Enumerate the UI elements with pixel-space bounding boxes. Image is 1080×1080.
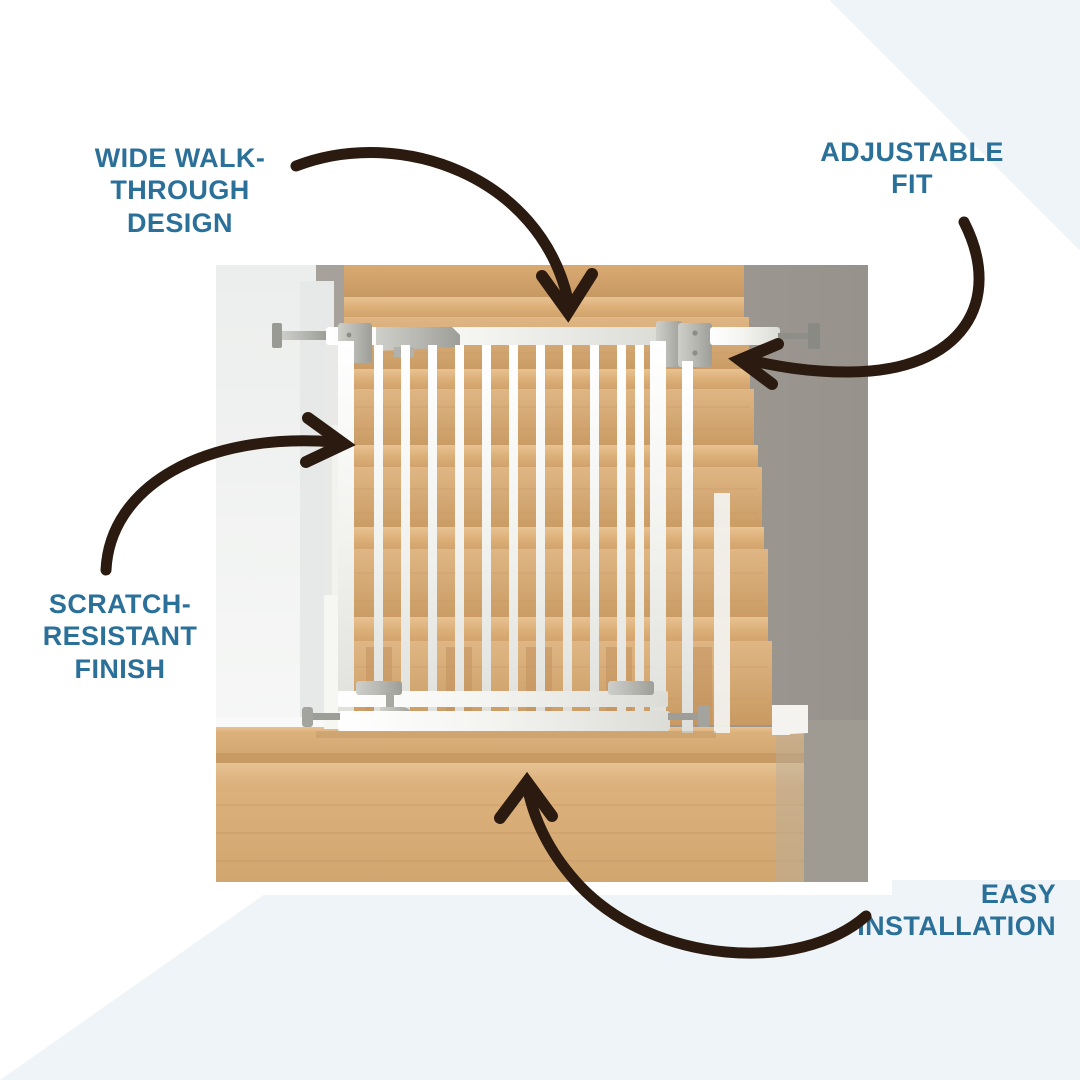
callout-line: DESIGN: [60, 207, 300, 239]
product-photo: [216, 265, 868, 882]
callout-line: ADJUSTABLE: [782, 136, 1042, 168]
callout-easy-installation: EASY INSTALLATION: [756, 878, 1056, 943]
callout-wide-walk-through-design: WIDE WALK- THROUGH DESIGN: [60, 142, 300, 239]
callout-line: FINISH: [14, 653, 226, 685]
callout-line: SCRATCH-: [14, 588, 226, 620]
callout-line: FIT: [782, 168, 1042, 200]
callout-line: INSTALLATION: [756, 910, 1056, 942]
callout-scratch-resistant-finish: SCRATCH- RESISTANT FINISH: [14, 588, 226, 685]
corner-accent-top-right: [830, 0, 1080, 250]
safety-gate-scene: [216, 265, 868, 882]
callout-line: WIDE WALK-: [60, 142, 300, 174]
product-photo-frame: [200, 250, 892, 895]
callout-line: EASY: [756, 878, 1056, 910]
landing-step: [216, 720, 868, 882]
infographic-canvas: { "theme": { "accent_blue": "#2b7099", "…: [0, 0, 1080, 1080]
callout-line: RESISTANT: [14, 620, 226, 652]
callout-adjustable-fit: ADJUSTABLE FIT: [782, 136, 1042, 201]
callout-line: THROUGH: [60, 174, 300, 206]
